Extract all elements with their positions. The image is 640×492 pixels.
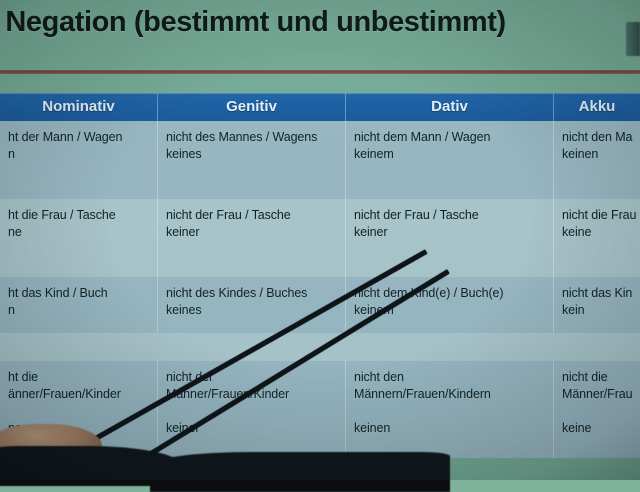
cell-dativ-feminine: nicht der Frau / Tasche keiner bbox=[345, 199, 553, 277]
title-divider bbox=[0, 70, 640, 74]
column-header-nominativ: Nominativ bbox=[0, 93, 157, 121]
column-header-genitiv: Genitiv bbox=[157, 93, 345, 121]
cell-dativ-neuter: nicht dem Kind(e) / Buch(e) keinem bbox=[345, 277, 553, 333]
table-row: ht der Mann / Wagen n nicht des Mannes /… bbox=[0, 121, 640, 199]
cell-nominativ-plural: ht die änner/Frauen/Kinder ne bbox=[0, 361, 157, 458]
cell-akkusativ-plural: nicht die Männer/Frau keine bbox=[553, 361, 640, 458]
screen-edge-artifact bbox=[626, 22, 640, 56]
cell-nominativ-masculine: ht der Mann / Wagen n bbox=[0, 121, 157, 199]
cell-dativ-plural: nicht den Männern/Frauen/Kindern keinen bbox=[345, 361, 553, 458]
table-header-row: Nominativ Genitiv Dativ Akku bbox=[0, 93, 640, 121]
cell-genitiv-neuter: nicht des Kindes / Buches keines bbox=[157, 277, 345, 333]
projected-slide: e Negation (bestimmt und unbestimmt) Nom… bbox=[0, 0, 640, 480]
cell-dativ-masculine: nicht dem Mann / Wagen keinem bbox=[345, 121, 553, 199]
column-header-akkusativ: Akku bbox=[553, 93, 640, 121]
slide-footer-credit: sche Kolleg, Robert Orzanna, Karlsruhe 2… bbox=[96, 461, 636, 479]
cell-genitiv-plural: nicht der Männer/Frauen/Kinder keiner bbox=[157, 361, 345, 458]
cell-nominativ-feminine: ht die Frau / Tasche ne bbox=[0, 199, 157, 277]
cell-genitiv-masculine: nicht des Mannes / Wagens keines bbox=[157, 121, 345, 199]
table-row: ht die änner/Frauen/Kinder ne nicht der … bbox=[0, 361, 640, 458]
cell-akkusativ-masculine: nicht den Ma keinen bbox=[553, 121, 640, 199]
table-row: ht das Kind / Buch n nicht des Kindes / … bbox=[0, 277, 640, 333]
negation-table: Nominativ Genitiv Dativ Akku ht der Mann… bbox=[0, 93, 640, 458]
column-header-dativ: Dativ bbox=[345, 93, 553, 121]
cell-akkusativ-neuter: nicht das Kin kein bbox=[553, 277, 640, 333]
cell-nominativ-neuter: ht das Kind / Buch n bbox=[0, 277, 157, 333]
cell-genitiv-feminine: nicht der Frau / Tasche keiner bbox=[157, 199, 345, 277]
table-row: ht die Frau / Tasche ne nicht der Frau /… bbox=[0, 199, 640, 277]
cell-akkusativ-feminine: nicht die Frau keine bbox=[553, 199, 640, 277]
table-row-gap bbox=[0, 333, 640, 361]
page-title: e Negation (bestimmt und unbestimmt) bbox=[0, 6, 602, 50]
